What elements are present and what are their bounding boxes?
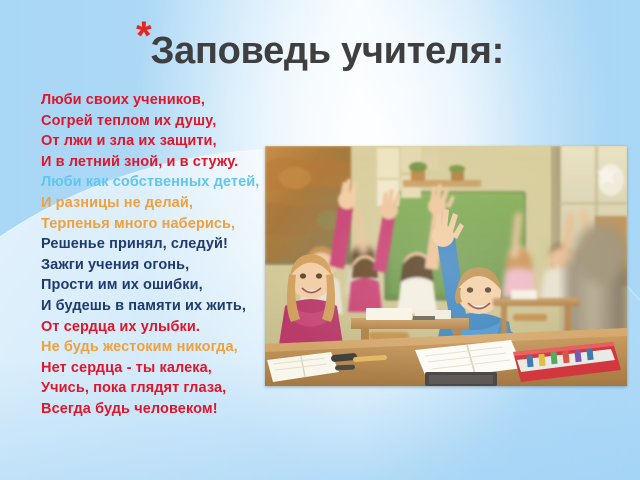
poem-line: Учись, пока глядят глаза, (41, 378, 267, 399)
presentation-slide: *Заповедь учителя: Люби своих учеников, … (0, 0, 640, 480)
poem-line: Решенье принял, следуй! (41, 234, 267, 255)
poem-line: И в летний зной, и в стужу. (41, 152, 267, 173)
poem-line: И будешь в памяти их жить, (41, 296, 267, 317)
poem-line: Всегда будь человеком! (41, 399, 267, 420)
slide-title: *Заповедь учителя: (0, 16, 640, 70)
classroom-photo (265, 146, 627, 386)
poem-line: Люби как собственных детей, (41, 172, 267, 193)
poem-line: Люби своих учеников, (41, 90, 267, 111)
slide-title-text: Заповедь учителя: (151, 30, 504, 72)
poem-line: От сердца их улыбки. (41, 317, 267, 338)
poem-line: Прости им их ошибки, (41, 275, 267, 296)
classroom-photo-illustration (265, 146, 627, 386)
poem-text-block: Люби своих учеников, Согрей теплом их ду… (41, 90, 267, 420)
asterisk-bullet-icon: * (136, 14, 151, 58)
poem-line: От лжи и зла их защити, (41, 131, 267, 152)
poem-line: Нет сердца - ты калека, (41, 358, 267, 379)
poem-line: И разницы не делай, (41, 193, 267, 214)
poem-line: Терпенья много наберись, (41, 214, 267, 235)
poem-line: Зажги учения огонь, (41, 255, 267, 276)
poem-line: Не будь жестоким никогда, (41, 337, 267, 358)
poem-line: Согрей теплом их душу, (41, 111, 267, 132)
